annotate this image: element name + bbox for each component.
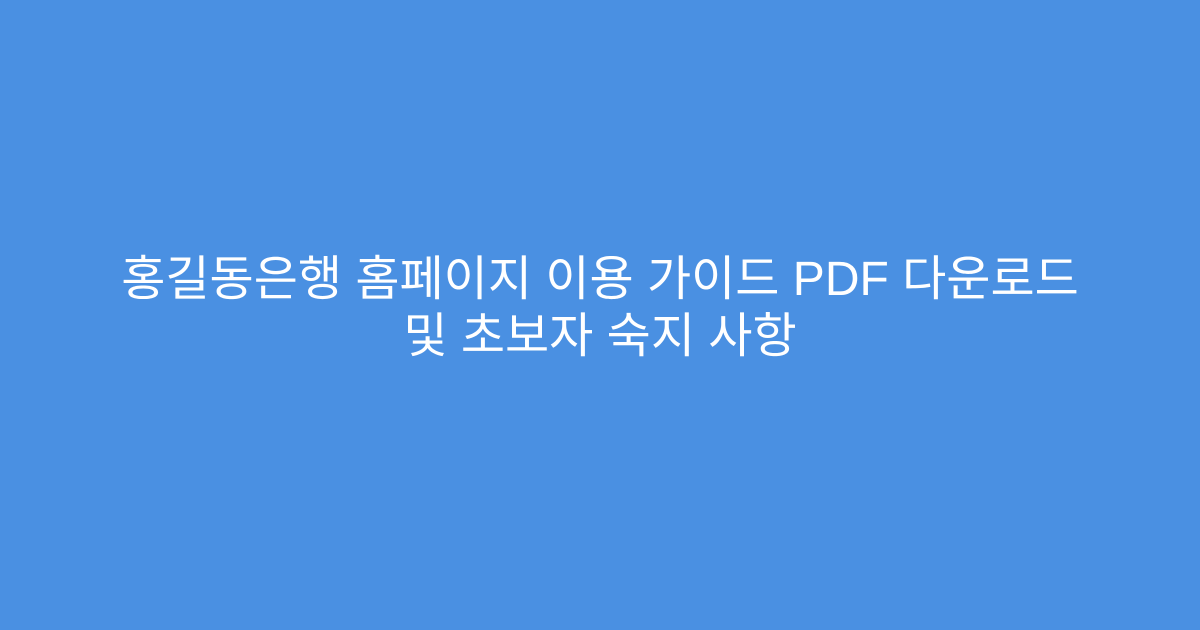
headline-block: 홍길동은행 홈페이지 이용 가이드 PDF 다운로드 및 초보자 숙지 사항	[50, 251, 1150, 365]
og-card-canvas: 홍길동은행 홈페이지 이용 가이드 PDF 다운로드 및 초보자 숙지 사항	[0, 0, 1200, 630]
page-title: 홍길동은행 홈페이지 이용 가이드 PDF 다운로드 및 초보자 숙지 사항	[70, 251, 1130, 365]
